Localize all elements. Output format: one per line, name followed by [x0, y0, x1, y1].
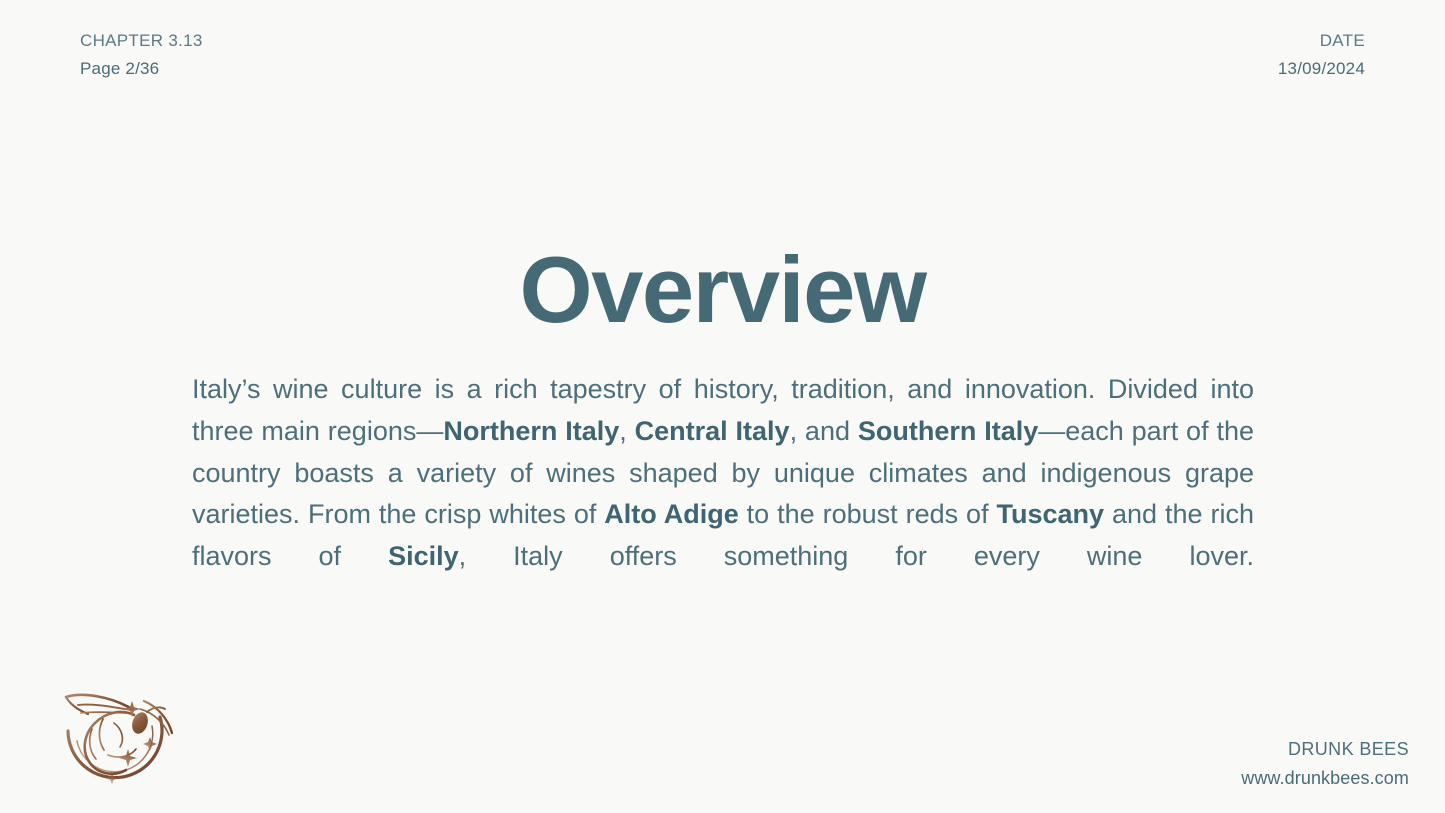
body-container: Italy’s wine culture is a rich tapestry …: [192, 369, 1254, 620]
slide-canvas: CHAPTER 3.13 Page 2/36 DATE 13/09/2024 O…: [0, 0, 1445, 813]
emphasis-term: Tuscany: [997, 499, 1105, 529]
emphasis-term: Northern Italy: [443, 416, 619, 446]
brand-url[interactable]: www.drunkbees.com: [1241, 766, 1409, 791]
drunk-bees-logo-icon: [48, 679, 184, 795]
brand-name: DRUNK BEES: [1241, 737, 1409, 762]
page-indicator: Page 2/36: [80, 58, 203, 81]
body-run: to the robust reds of: [739, 499, 997, 529]
emphasis-term: Alto Adige: [604, 499, 738, 529]
chapter-label: CHAPTER 3.13: [80, 30, 203, 53]
page-title: Overview: [0, 241, 1445, 340]
body-run: ,: [619, 416, 634, 446]
date-value: 13/09/2024: [1278, 58, 1365, 81]
date-label: DATE: [1278, 30, 1365, 53]
overview-paragraph: Italy’s wine culture is a rich tapestry …: [192, 369, 1254, 620]
emphasis-term: Southern Italy: [858, 416, 1038, 446]
emphasis-term: Central Italy: [635, 416, 790, 446]
header-date-block: DATE 13/09/2024: [1278, 30, 1365, 81]
emphasis-term: Sicily: [388, 541, 459, 571]
body-run: , and: [790, 416, 858, 446]
body-run: , Italy offers something for every wine …: [459, 541, 1254, 571]
footer-brand-block: DRUNK BEES www.drunkbees.com: [1241, 737, 1409, 791]
header-chapter-block: CHAPTER 3.13 Page 2/36: [80, 30, 203, 81]
